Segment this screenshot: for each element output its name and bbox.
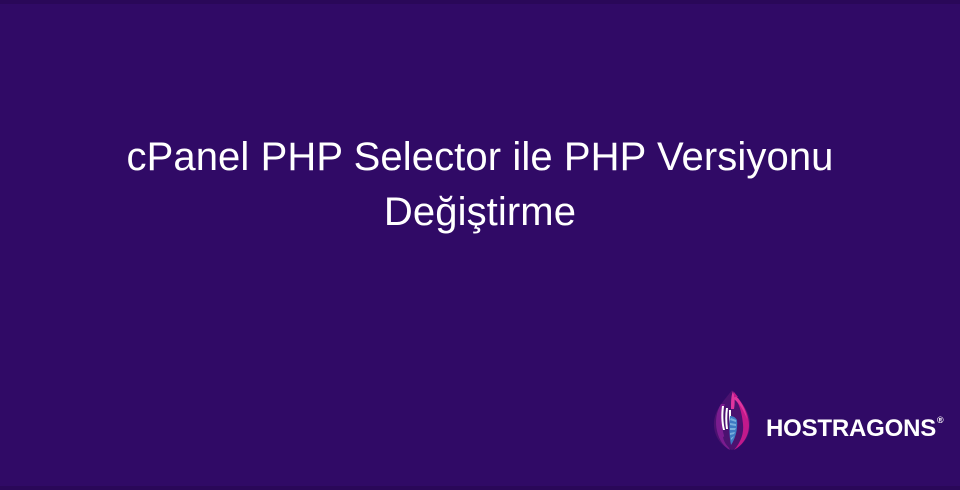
banner-graphic: cPanel PHP Selector ile PHP Versiyonu De… <box>0 0 960 490</box>
wordmark-text: HOSTRAGONS <box>766 417 936 441</box>
page-title: cPanel PHP Selector ile PHP Versiyonu De… <box>115 130 845 240</box>
hostragons-logo: HOSTRAGONS ® <box>708 389 943 451</box>
title-container: cPanel PHP Selector ile PHP Versiyonu De… <box>0 0 960 370</box>
bottom-edge-band <box>0 486 960 490</box>
registered-trademark-symbol: ® <box>937 416 944 425</box>
hostragons-dragon-icon <box>708 389 756 451</box>
hostragons-wordmark: HOSTRAGONS ® <box>766 408 943 432</box>
